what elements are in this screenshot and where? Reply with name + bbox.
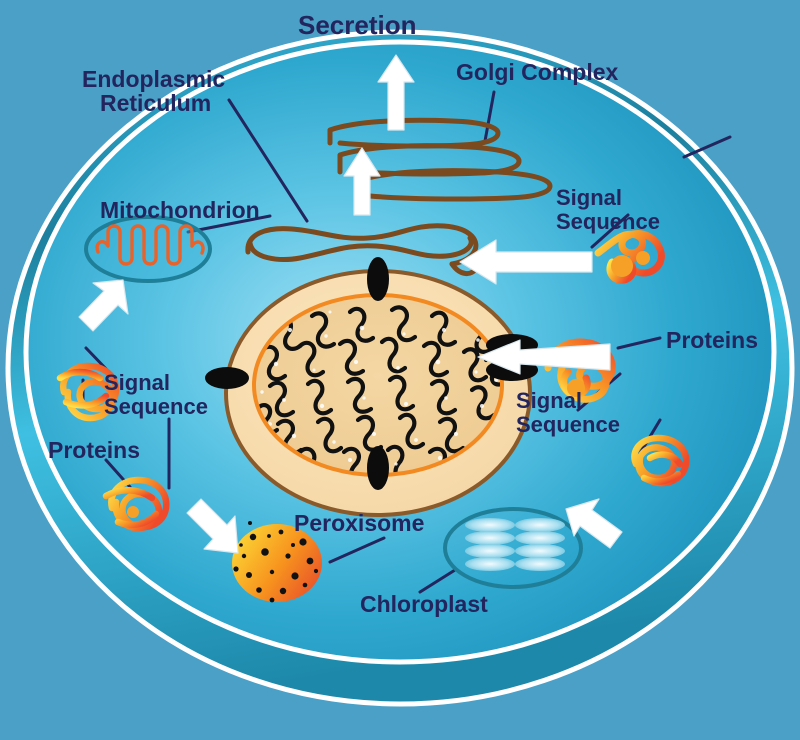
label-secretion: Secretion xyxy=(298,10,417,40)
label-golgi-complex: Golgi Complex xyxy=(456,59,619,85)
label-chloroplast: Chloroplast xyxy=(360,591,488,617)
label-endoplasmic-reticulum-line1: Endoplasmic xyxy=(82,66,225,92)
nuclear-pore-top xyxy=(367,257,389,301)
label-peroxisome: Peroxisome xyxy=(294,510,424,536)
label-signal-sequence-left-line2: Sequence xyxy=(104,394,208,419)
label-signal-sequence-right-top-line1: Signal xyxy=(556,185,622,210)
nuclear-pore-bottom xyxy=(367,446,389,490)
label-endoplasmic-reticulum-line2: Reticulum xyxy=(100,90,211,116)
cell-diagram: Secretion Endoplasmic Reticulum Golgi Co… xyxy=(0,0,800,740)
label-proteins-right: Proteins xyxy=(666,327,758,353)
mitochondrion xyxy=(86,217,210,281)
label-signal-sequence-right-top-line2: Sequence xyxy=(556,209,660,234)
label-signal-sequence-left-line1: Signal xyxy=(104,370,170,395)
label-signal-sequence-right-bottom-line2: Sequence xyxy=(516,412,620,437)
nuclear-pore-left xyxy=(205,367,249,389)
protein-right-upper-globule xyxy=(611,255,633,277)
label-proteins-left: Proteins xyxy=(48,437,140,463)
label-mitochondrion: Mitochondrion xyxy=(100,197,260,223)
label-signal-sequence-right-bottom-line1: Signal xyxy=(516,388,582,413)
